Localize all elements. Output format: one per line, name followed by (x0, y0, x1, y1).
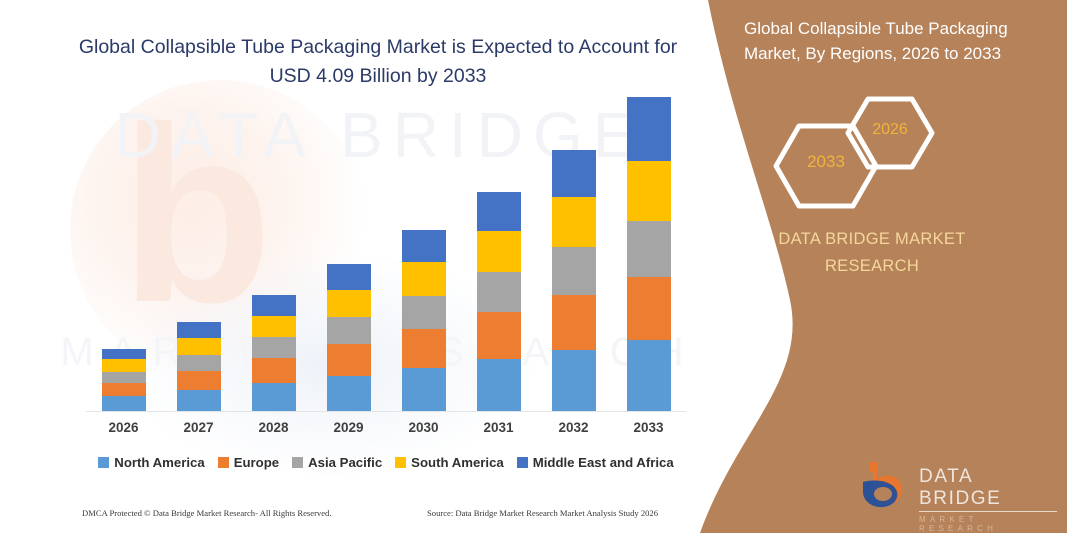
data-bridge-logo: DATA BRIDGE MARKET RESEARCH (859, 458, 1059, 516)
legend-item-europe[interactable]: Europe (218, 455, 279, 470)
bar-segment-north-america (252, 383, 296, 411)
footer-copyright: DMCA Protected © Data Bridge Market Rese… (82, 508, 332, 518)
bar-segment-middle-east-and-africa (252, 295, 296, 315)
bar-segment-middle-east-and-africa (552, 150, 596, 197)
logo-text: DATA BRIDGE MARKET RESEARCH (919, 466, 1059, 533)
bar-segment-south-america (102, 359, 146, 372)
logo-mark-icon (859, 460, 915, 510)
legend-swatch-icon (218, 457, 229, 468)
legend-swatch-icon (395, 457, 406, 468)
bar-segment-middle-east-and-africa (177, 322, 221, 338)
bar-segment-south-america (327, 290, 371, 318)
b-and-d-logo-icon (859, 460, 915, 510)
x-axis-label-2027: 2027 (161, 420, 236, 435)
x-axis-label-2032: 2032 (536, 420, 611, 435)
bar-segment-north-america (402, 368, 446, 411)
legend-swatch-icon (517, 457, 528, 468)
bar-column (461, 120, 536, 411)
footer-source: Source: Data Bridge Market Research Mark… (427, 508, 658, 518)
bar-segment-asia-pacific (327, 317, 371, 344)
bar-segment-europe (627, 277, 671, 340)
panel-brand-line-2: RESEARCH (722, 253, 1022, 280)
stacked-bar-2033 (627, 97, 671, 411)
legend-item-south-america[interactable]: South America (395, 455, 504, 470)
bar-segment-europe (252, 358, 296, 383)
bar-column (311, 120, 386, 411)
panel-brand-name: DATA BRIDGE MARKET RESEARCH (722, 226, 1022, 280)
bar-segment-south-america (552, 197, 596, 247)
bar-column (386, 120, 461, 411)
stacked-bar-chart (86, 120, 686, 411)
bar-segment-europe (477, 312, 521, 359)
legend-label: Europe (234, 455, 279, 470)
bar-column (161, 120, 236, 411)
bar-column (236, 120, 311, 411)
bar-segment-asia-pacific (102, 372, 146, 383)
chart-legend: North AmericaEuropeAsia PacificSouth Ame… (86, 455, 686, 470)
right-brand-panel: Global Collapsible Tube Packaging Market… (677, 0, 1067, 533)
bar-segment-europe (102, 383, 146, 397)
bar-segment-south-america (177, 338, 221, 355)
bar-segment-middle-east-and-africa (402, 230, 446, 262)
bar-segment-north-america (552, 350, 596, 411)
chart-title: Global Collapsible Tube Packaging Market… (78, 33, 678, 91)
legend-label: South America (411, 455, 504, 470)
bar-segment-asia-pacific (177, 355, 221, 371)
bar-segment-south-america (402, 262, 446, 296)
bar-segment-europe (327, 344, 371, 376)
bar-segment-north-america (477, 359, 521, 411)
bar-segment-europe (177, 371, 221, 390)
x-axis-label-2033: 2033 (611, 420, 686, 435)
legend-swatch-icon (292, 457, 303, 468)
bar-segment-middle-east-and-africa (102, 349, 146, 359)
logo-main-text: DATA BRIDGE (919, 466, 1059, 510)
legend-item-north-america[interactable]: North America (98, 455, 204, 470)
panel-brand-line-1: DATA BRIDGE MARKET (722, 226, 1022, 253)
x-axis-label-2030: 2030 (386, 420, 461, 435)
stacked-bar-2032 (552, 150, 596, 411)
x-axis-label-2028: 2028 (236, 420, 311, 435)
hexagon-badge-2026: 2026 (844, 95, 936, 171)
stacked-bar-2028 (252, 295, 296, 411)
bar-segment-south-america (252, 316, 296, 338)
bar-segment-south-america (627, 161, 671, 222)
legend-item-asia-pacific[interactable]: Asia Pacific (292, 455, 382, 470)
bar-segment-asia-pacific (627, 221, 671, 277)
bar-column (611, 120, 686, 411)
legend-label: Middle East and Africa (533, 455, 674, 470)
bar-segment-middle-east-and-africa (477, 192, 521, 231)
stacked-bar-2027 (177, 322, 221, 411)
x-axis-label-2031: 2031 (461, 420, 536, 435)
stacked-bar-2031 (477, 192, 521, 411)
bar-column (536, 120, 611, 411)
hexagon-badges: 2033 2026 (772, 95, 972, 210)
bar-column (86, 120, 161, 411)
bar-segment-north-america (102, 396, 146, 411)
bar-segment-asia-pacific (477, 272, 521, 312)
bar-segment-asia-pacific (552, 247, 596, 294)
bar-segment-north-america (327, 376, 371, 411)
legend-item-middle-east-and-africa[interactable]: Middle East and Africa (517, 455, 674, 470)
bar-segment-middle-east-and-africa (327, 264, 371, 289)
x-axis-line (86, 411, 686, 412)
legend-swatch-icon (98, 457, 109, 468)
bar-segment-asia-pacific (252, 337, 296, 358)
x-axis-label-2026: 2026 (86, 420, 161, 435)
bar-segment-north-america (627, 340, 671, 411)
stacked-bar-2026 (102, 349, 146, 411)
x-axis-label-2029: 2029 (311, 420, 386, 435)
logo-sub-text: MARKET RESEARCH (919, 515, 1059, 533)
bar-segment-europe (402, 329, 446, 368)
legend-label: North America (114, 455, 204, 470)
bar-segment-europe (552, 295, 596, 351)
hexagon-label-2026: 2026 (844, 121, 936, 139)
legend-label: Asia Pacific (308, 455, 382, 470)
panel-title: Global Collapsible Tube Packaging Market… (744, 16, 1052, 66)
bar-segment-asia-pacific (402, 296, 446, 329)
infographic-canvas: b DATA BRIDGE MARKET RESEARCH Global Col… (0, 0, 1067, 533)
bar-segment-north-america (177, 390, 221, 411)
stacked-bar-2030 (402, 230, 446, 411)
bar-segment-middle-east-and-africa (627, 97, 671, 160)
stacked-bar-2029 (327, 264, 371, 411)
x-axis-labels: 20262027202820292030203120322033 (86, 420, 686, 435)
logo-divider (919, 511, 1057, 512)
bar-segment-south-america (477, 231, 521, 273)
